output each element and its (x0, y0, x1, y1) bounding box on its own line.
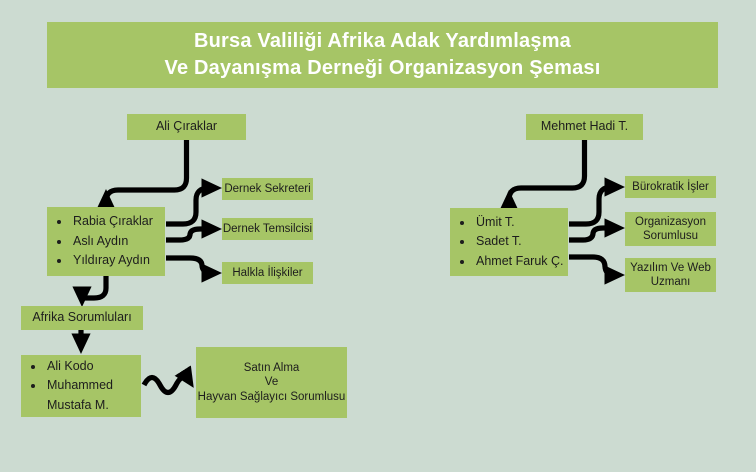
left-members-list: Rabia Çıraklar Aslı Aydın Yıldıray Aydın (47, 212, 153, 270)
node-yazilim-ve-web-uzmani-label: Yazılım Ve Web Uzmanı (625, 261, 716, 290)
node-burokratik-isler-label: Bürokratik İşler (632, 180, 709, 194)
edge-right-members-to-role-1 (569, 187, 618, 224)
node-yazilim-ve-web-uzmani[interactable]: Yazılım Ve Web Uzmanı (625, 258, 716, 292)
edge-africa-members-to-purchasing (144, 377, 190, 392)
right-members-list: Ümit T. Sadet T. Ahmet Faruk Ç. (450, 213, 564, 271)
list-item: Aslı Aydın (71, 232, 153, 251)
node-ali-ciraklar-label: Ali Çıraklar (156, 119, 217, 135)
node-mehmet-hadi-t-label: Mehmet Hadi T. (541, 119, 628, 135)
chart-title-banner: Bursa Valiliği Afrika Adak Yardımlaşma V… (47, 22, 718, 88)
page-title-line-1: Bursa Valiliği Afrika Adak Yardımlaşma (194, 30, 571, 53)
node-dernek-sekreteri-label: Dernek Sekreteri (224, 182, 310, 196)
node-right-members[interactable]: Ümit T. Sadet T. Ahmet Faruk Ç. (450, 208, 568, 276)
node-satin-alma-line-3: Hayvan Sağlayıcı Sorumlusu (198, 390, 346, 404)
org-chart-canvas: Bursa Valiliği Afrika Adak Yardımlaşma V… (0, 0, 756, 472)
list-item: Ahmet Faruk Ç. (474, 252, 564, 271)
edge-left-members-to-role-3 (166, 258, 215, 273)
node-dernek-sekreteri[interactable]: Dernek Sekreteri (222, 178, 313, 200)
node-satin-alma-hayvan-saglayici[interactable]: Satın Alma Ve Hayvan Sağlayıcı Sorumlusu (196, 347, 347, 418)
list-item: Sadet T. (474, 232, 564, 251)
page-title-line-2: Ve Dayanışma Derneği Organizasyon Şeması (165, 57, 601, 80)
node-mehmet-hadi-t[interactable]: Mehmet Hadi T. (526, 114, 643, 140)
node-organizasyon-sorumlusu[interactable]: Organizasyon Sorumlusu (625, 212, 716, 246)
list-item: Rabia Çıraklar (71, 212, 153, 231)
edge-left-members-to-afrika (82, 276, 106, 300)
node-satin-alma-line-2: Ve (265, 375, 278, 389)
list-item: Ali Kodo (45, 357, 141, 376)
node-burokratik-isler[interactable]: Bürokratik İşler (625, 176, 716, 198)
node-dernek-temsilcisi-label: Dernek Temsilcisi (223, 222, 312, 236)
node-afrika-sorumlulari-label: Afrika Sorumluları (32, 310, 131, 326)
node-organizasyon-sorumlusu-label: Organizasyon Sorumlusu (625, 215, 716, 244)
list-item: Yıldıray Aydın (71, 251, 153, 270)
list-item: Ümit T. (474, 213, 564, 232)
list-item: Muhammed Mustafa M. (45, 376, 141, 415)
africa-members-list: Ali Kodo Muhammed Mustafa M. (21, 357, 141, 415)
edge-left-members-to-role-1 (166, 188, 215, 224)
node-halkla-iliskiler-label: Halkla İlişkiler (232, 266, 302, 280)
edge-right-members-to-role-3 (569, 257, 618, 275)
edge-right-members-to-role-2 (569, 228, 618, 240)
node-halkla-iliskiler[interactable]: Halkla İlişkiler (222, 262, 313, 284)
node-afrika-sorumlulari[interactable]: Afrika Sorumluları (21, 306, 143, 330)
node-africa-members[interactable]: Ali Kodo Muhammed Mustafa M. (21, 355, 141, 417)
edge-head-to-left-members (106, 140, 187, 202)
edge-left-members-to-role-2 (166, 229, 215, 240)
node-ali-ciraklar[interactable]: Ali Çıraklar (127, 114, 246, 140)
node-dernek-temsilcisi[interactable]: Dernek Temsilcisi (222, 218, 313, 240)
edge-head-to-right-members (509, 140, 585, 200)
node-satin-alma-line-1: Satın Alma (244, 361, 300, 375)
node-left-members[interactable]: Rabia Çıraklar Aslı Aydın Yıldıray Aydın (47, 207, 165, 276)
